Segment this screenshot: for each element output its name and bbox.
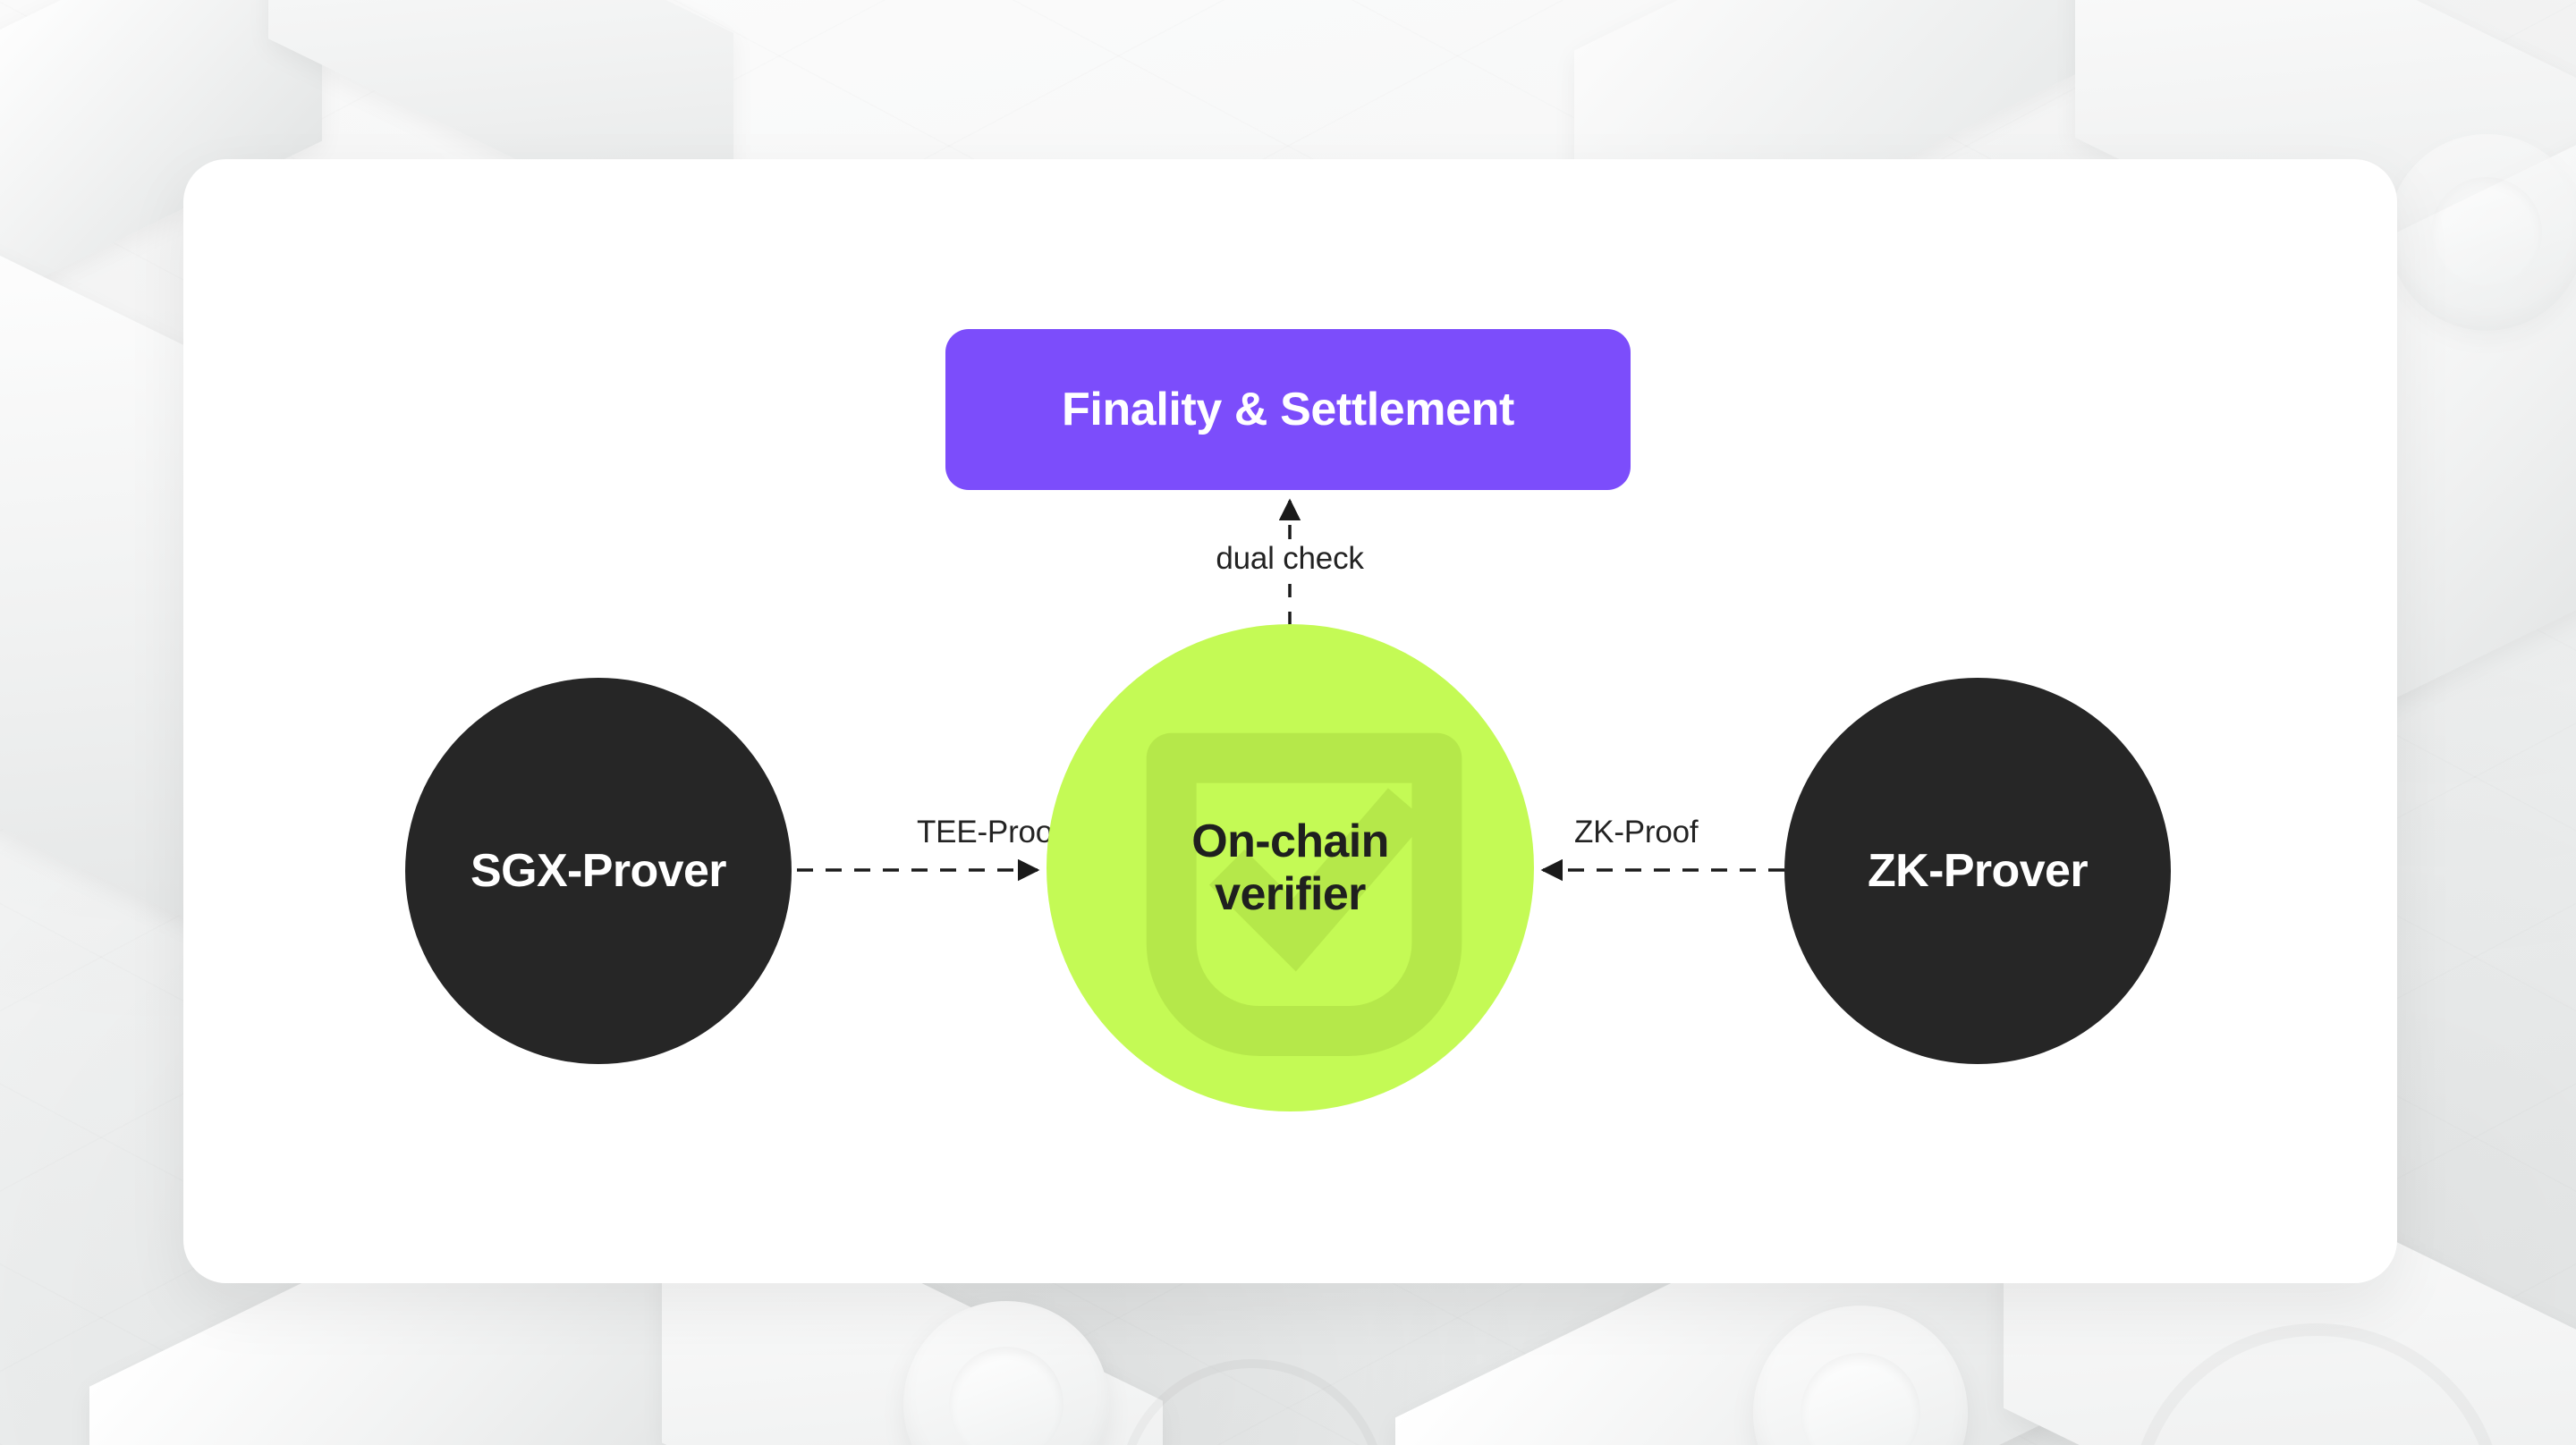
node-finality-settlement[interactable]: Finality & Settlement	[945, 329, 1631, 490]
node-sgx-prover[interactable]: SGX-Prover	[405, 678, 792, 1064]
node-onchain-verifier-label-line1: On-chain	[1191, 815, 1389, 867]
node-zk-prover-label: ZK-Prover	[1868, 845, 2088, 897]
node-onchain-verifier-label: On-chain verifier	[1191, 815, 1389, 919]
background-ring	[1118, 1359, 1386, 1445]
node-sgx-prover-label: SGX-Prover	[470, 845, 726, 897]
flow-diagram: Finality & Settlement dual check SGX-Pro…	[183, 159, 2397, 1283]
node-onchain-verifier-label-line2: verifier	[1191, 868, 1389, 920]
screenshot-root: Finality & Settlement dual check SGX-Pro…	[0, 0, 2576, 1445]
node-onchain-verifier[interactable]: On-chain verifier	[1046, 624, 1534, 1111]
node-finality-settlement-label: Finality & Settlement	[1062, 383, 1514, 436]
edge-label-dual-check: dual check	[1216, 541, 1363, 577]
background-gear	[2388, 134, 2576, 331]
diagram-card: Finality & Settlement dual check SGX-Pro…	[183, 159, 2397, 1283]
node-zk-prover[interactable]: ZK-Prover	[1784, 678, 2171, 1064]
edge-label-tee-proof: TEE-Proof	[917, 815, 1062, 850]
edge-label-zk-proof: ZK-Proof	[1574, 815, 1698, 850]
